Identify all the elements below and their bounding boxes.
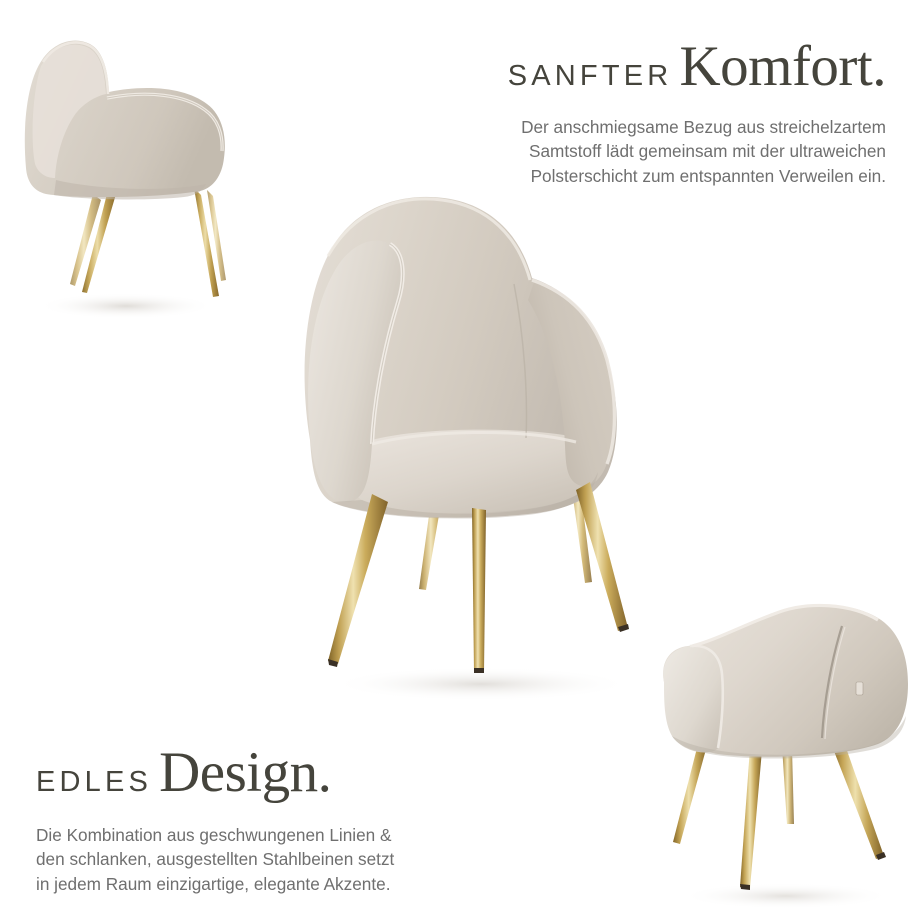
design-headline-feature: Design.	[159, 741, 331, 804]
comfort-text-block: SANFTERKomfort. Der anschmiegsame Bezug …	[456, 38, 886, 188]
comfort-headline-feature: Komfort.	[679, 35, 886, 98]
side-view-legs	[70, 186, 226, 297]
chair-image-front-view	[276, 172, 686, 712]
design-headline-eyebrow: EDLES	[36, 766, 152, 798]
comfort-headline: SANFTERKomfort.	[456, 38, 886, 95]
design-text-block: EDLESDesign. Die Kombination aus geschwu…	[36, 744, 466, 896]
side-view-floor-shadow	[38, 293, 214, 319]
design-body-copy: Die Kombination aus geschwungenen Linien…	[36, 801, 466, 896]
back-view-legs	[673, 742, 884, 888]
chair-image-back-view	[646, 596, 920, 916]
back-view-left-arm	[663, 646, 723, 753]
design-headline: EDLESDesign.	[36, 744, 466, 801]
product-feature-page: SANFTERKomfort. Der anschmiegsame Bezug …	[0, 0, 920, 920]
front-view-seat	[352, 430, 599, 513]
comfort-headline-eyebrow: SANFTER	[508, 60, 673, 92]
brand-tag	[856, 682, 863, 695]
chair-image-side-view	[8, 18, 258, 328]
back-view-floor-shadow	[681, 883, 891, 909]
front-view-front-legs	[328, 482, 628, 672]
